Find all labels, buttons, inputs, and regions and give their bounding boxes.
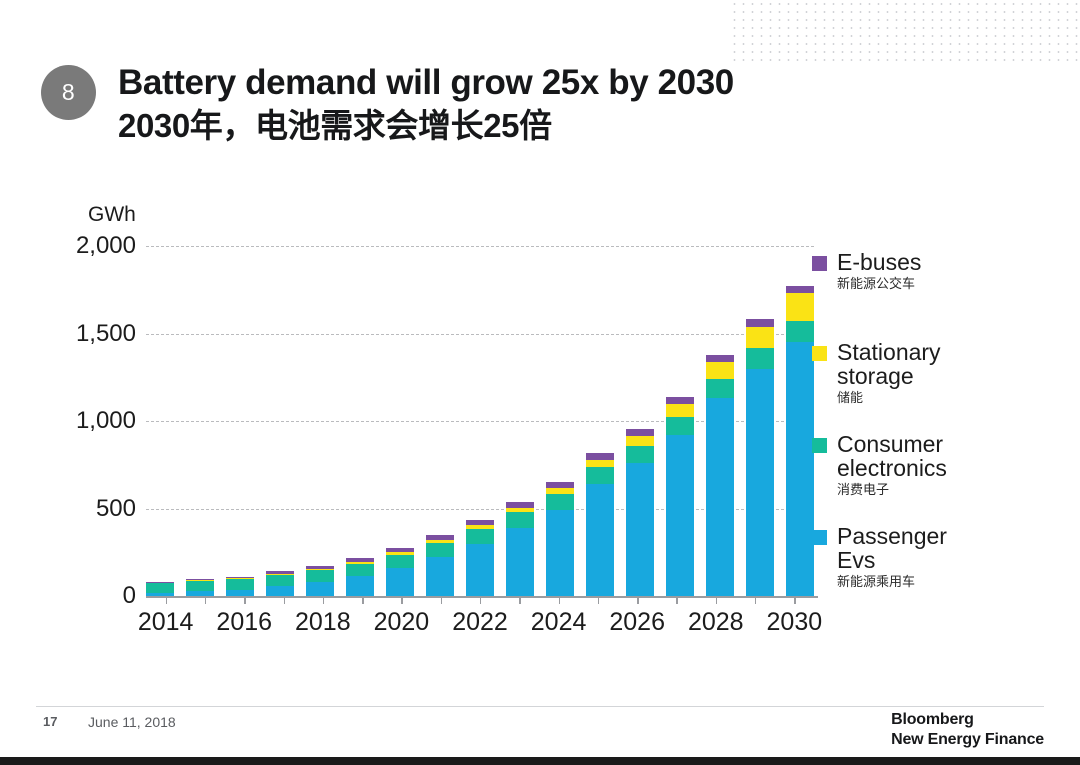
- y-tick-label: 1,000: [36, 407, 136, 435]
- x-tick-label: 2022: [452, 608, 508, 637]
- y-axis: 05001,0001,5002,000: [36, 0, 136, 700]
- bar-segment-consumer-electronics: [746, 348, 774, 368]
- bar-column[interactable]: [386, 246, 414, 596]
- bar-segment-consumer-electronics: [506, 512, 534, 527]
- x-tick-mark: [716, 596, 717, 604]
- legend-swatch-icon: [812, 256, 827, 271]
- bar-segment-consumer-electronics: [586, 467, 614, 484]
- x-axis-line: [146, 596, 818, 598]
- bar-segment-stationary-storage: [586, 460, 614, 467]
- bar-segment-consumer-electronics: [346, 564, 374, 577]
- legend-text: Passenger Evs新能源乘用车: [837, 524, 947, 589]
- legend-label-zh: 新能源乘用车: [837, 575, 947, 589]
- bar-segment-passenger-evs: [466, 544, 494, 597]
- bar-segment-passenger-evs: [546, 510, 574, 596]
- x-tick-label: 2016: [216, 608, 272, 637]
- bar-segment-consumer-electronics: [786, 321, 814, 342]
- bar-column[interactable]: [746, 246, 774, 596]
- bar-segment-passenger-evs: [386, 568, 414, 596]
- x-tick-label: 2018: [295, 608, 351, 637]
- x-tick-mark: [598, 596, 599, 604]
- legend-text: E-buses新能源公交车: [837, 250, 921, 291]
- legend-swatch-icon: [812, 530, 827, 545]
- bar-column[interactable]: [546, 246, 574, 596]
- bar-segment-e-buses: [586, 453, 614, 460]
- x-tick-mark: [362, 596, 363, 604]
- bar-segment-passenger-evs: [586, 484, 614, 596]
- x-tick-mark: [637, 596, 638, 604]
- y-tick-label: 2,000: [36, 232, 136, 260]
- bar-segment-stationary-storage: [626, 436, 654, 446]
- x-tick-mark: [441, 596, 442, 604]
- bar-column[interactable]: [226, 246, 254, 596]
- x-tick-label: 2030: [767, 608, 823, 637]
- legend-label-en: Stationary storage: [837, 340, 941, 388]
- legend-item-stationary-storage[interactable]: Stationary storage储能: [812, 340, 941, 405]
- bar-segment-stationary-storage: [706, 362, 734, 379]
- legend-label-en: Passenger Evs: [837, 524, 947, 572]
- x-tick-label: 2020: [374, 608, 430, 637]
- bar-segment-consumer-electronics: [466, 529, 494, 544]
- y-tick-label: 1,500: [36, 320, 136, 348]
- x-tick-mark: [323, 596, 324, 604]
- legend-label-zh: 储能: [837, 391, 941, 405]
- bar-column[interactable]: [626, 246, 654, 596]
- bar-column[interactable]: [266, 246, 294, 596]
- bar-segment-passenger-evs: [226, 590, 254, 596]
- bar-column[interactable]: [706, 246, 734, 596]
- x-tick-mark: [519, 596, 520, 604]
- bar-segment-passenger-evs: [146, 593, 174, 597]
- legend-swatch-icon: [812, 346, 827, 361]
- bar-segment-passenger-evs: [626, 463, 654, 596]
- bar-segment-consumer-electronics: [706, 379, 734, 398]
- bar-segment-consumer-electronics: [626, 446, 654, 464]
- bar-segment-consumer-electronics: [186, 581, 214, 591]
- bar-segment-consumer-electronics: [386, 555, 414, 568]
- bottom-accent-bar: [0, 757, 1080, 765]
- x-tick-mark: [794, 596, 795, 604]
- bar-column[interactable]: [346, 246, 374, 596]
- x-tick-mark: [166, 596, 167, 604]
- bar-column[interactable]: [466, 246, 494, 596]
- legend-item-passenger-evs[interactable]: Passenger Evs新能源乘用车: [812, 524, 947, 589]
- bar-column[interactable]: [666, 246, 694, 596]
- legend-swatch-icon: [812, 438, 827, 453]
- bar-segment-passenger-evs: [506, 528, 534, 596]
- x-tick-mark: [480, 596, 481, 604]
- bar-segment-consumer-electronics: [266, 575, 294, 586]
- brand-line-2: New Energy Finance: [891, 730, 1044, 750]
- footer-divider: [36, 706, 1044, 707]
- bloomberg-nef-logo: Bloomberg New Energy Finance: [891, 710, 1044, 749]
- footer-page-number: 17: [43, 714, 57, 729]
- bar-segment-passenger-evs: [186, 591, 214, 596]
- y-tick-label: 500: [36, 495, 136, 523]
- bar-segment-passenger-evs: [266, 586, 294, 596]
- bar-segment-passenger-evs: [746, 369, 774, 597]
- bar-column[interactable]: [306, 246, 334, 596]
- legend-label-zh: 新能源公交车: [837, 277, 921, 291]
- bar-segment-e-buses: [706, 355, 734, 362]
- x-tick-label: 2028: [688, 608, 744, 637]
- legend-text: Consumer electronics消费电子: [837, 432, 947, 497]
- bar-series-group: [146, 246, 814, 596]
- bar-segment-consumer-electronics: [666, 417, 694, 435]
- bar-segment-passenger-evs: [666, 435, 694, 596]
- bar-column[interactable]: [786, 246, 814, 596]
- bar-column[interactable]: [426, 246, 454, 596]
- bar-segment-consumer-electronics: [146, 583, 174, 593]
- legend-item-e-buses[interactable]: E-buses新能源公交车: [812, 250, 921, 291]
- bar-segment-consumer-electronics: [426, 543, 454, 557]
- x-tick-mark: [401, 596, 402, 604]
- x-tick-label: 2026: [609, 608, 665, 637]
- y-tick-label: 0: [36, 582, 136, 610]
- x-tick-mark: [559, 596, 560, 604]
- x-tick-label: 2024: [531, 608, 587, 637]
- brand-line-1: Bloomberg: [891, 710, 1044, 730]
- bar-segment-e-buses: [786, 286, 814, 294]
- bar-segment-passenger-evs: [706, 398, 734, 596]
- bar-column[interactable]: [506, 246, 534, 596]
- bar-segment-passenger-evs: [786, 342, 814, 596]
- x-tick-mark: [205, 596, 206, 604]
- bar-segment-passenger-evs: [346, 576, 374, 596]
- footer-date: June 11, 2018: [88, 714, 176, 730]
- bar-column[interactable]: [586, 246, 614, 596]
- legend-label-en: E-buses: [837, 250, 921, 274]
- bar-segment-e-buses: [626, 429, 654, 436]
- bar-segment-e-buses: [746, 319, 774, 326]
- bar-segment-passenger-evs: [306, 582, 334, 596]
- legend-text: Stationary storage储能: [837, 340, 941, 405]
- bar-segment-stationary-storage: [746, 327, 774, 349]
- bar-segment-stationary-storage: [666, 404, 694, 417]
- bar-column[interactable]: [186, 246, 214, 596]
- legend-label-zh: 消费电子: [837, 483, 947, 497]
- legend-item-consumer-electronics[interactable]: Consumer electronics消费电子: [812, 432, 947, 497]
- bar-column[interactable]: [146, 246, 174, 596]
- bar-segment-stationary-storage: [786, 293, 814, 321]
- bar-segment-passenger-evs: [426, 557, 454, 596]
- x-tick-mark: [244, 596, 245, 604]
- bar-segment-consumer-electronics: [306, 570, 334, 582]
- x-tick-label: 2014: [138, 608, 194, 637]
- x-tick-mark: [676, 596, 677, 604]
- bar-segment-e-buses: [666, 397, 694, 404]
- slide-canvas: 8 Battery demand will grow 25x by 2030 2…: [0, 0, 1080, 765]
- x-tick-mark: [284, 596, 285, 604]
- bar-segment-consumer-electronics: [226, 579, 254, 590]
- x-tick-mark: [755, 596, 756, 604]
- legend-label-en: Consumer electronics: [837, 432, 947, 480]
- bar-segment-consumer-electronics: [546, 494, 574, 510]
